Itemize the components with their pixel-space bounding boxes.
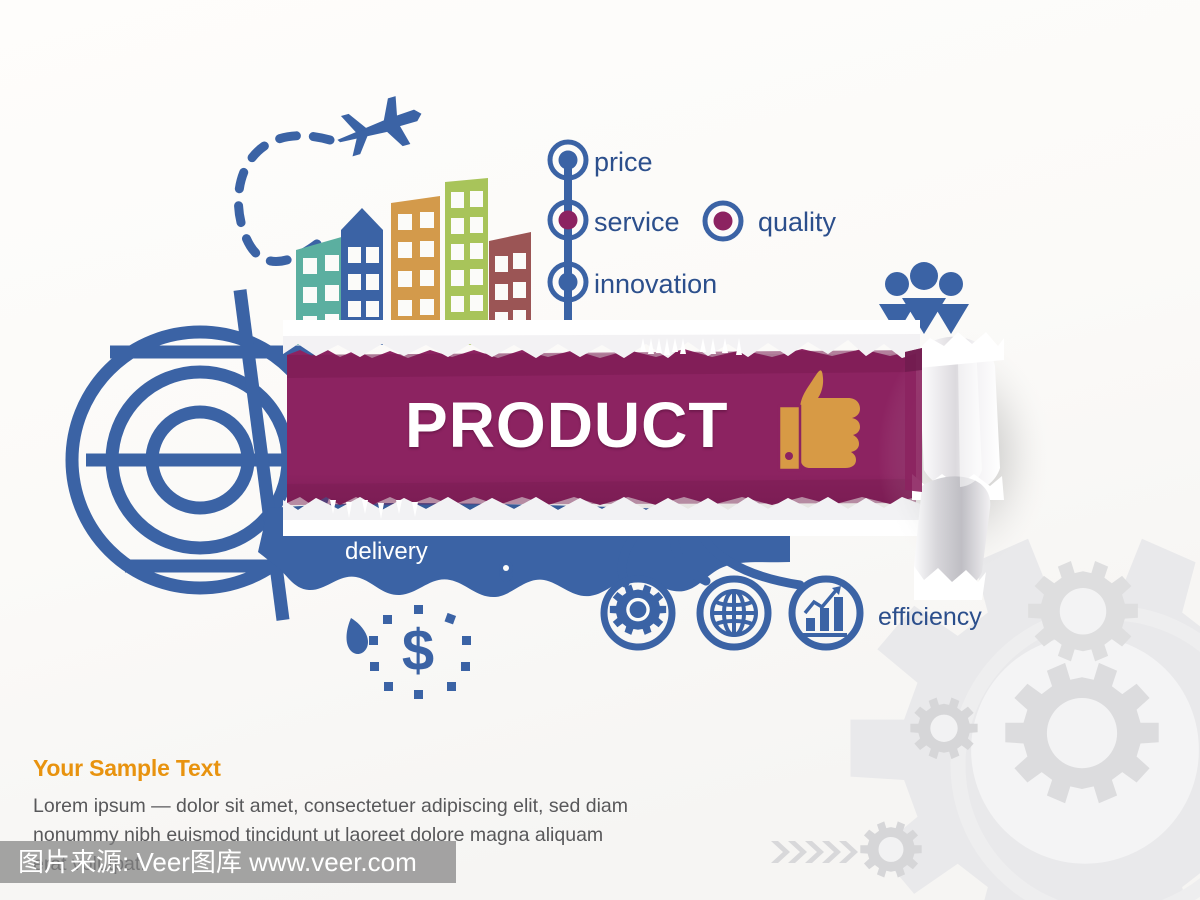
building-green (445, 178, 488, 345)
keyword-efficiency[interactable]: efficiency (878, 603, 982, 632)
keyword-service[interactable]: service (594, 207, 680, 238)
keyword-delivery[interactable]: delivery (345, 538, 428, 566)
infographic-canvas: $ (0, 0, 1200, 900)
keyword-price[interactable]: price (594, 147, 653, 178)
watermark-text: 图片来源: Veer图库 www.veer.com (18, 841, 417, 883)
keyword-quality[interactable]: quality (758, 207, 836, 238)
footer-heading: Your Sample Text (33, 755, 221, 782)
svg-text:$: $ (402, 618, 434, 683)
banner-title: PRODUCT (405, 388, 728, 462)
keyword-innovation[interactable]: innovation (594, 269, 717, 300)
globe-icon-circle[interactable] (700, 579, 768, 647)
